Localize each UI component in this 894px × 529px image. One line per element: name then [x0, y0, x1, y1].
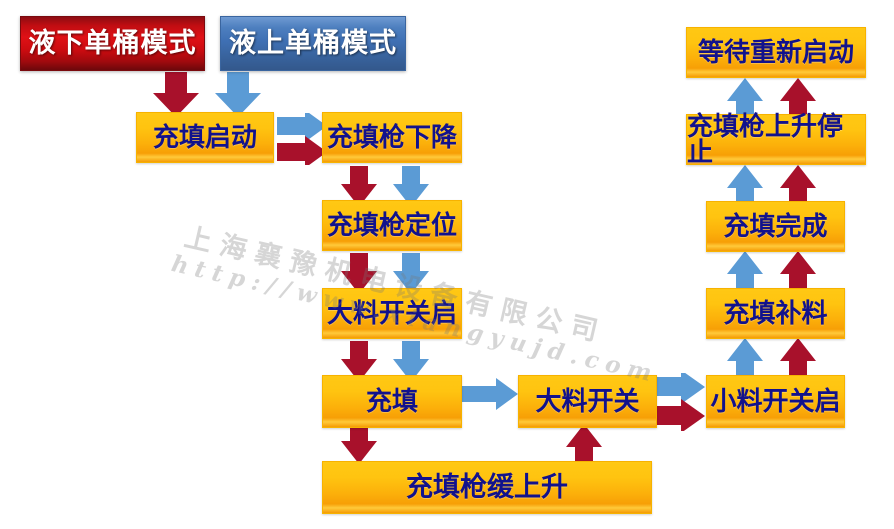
node-mode-sub[interactable]: 液下单桶模式 [20, 16, 205, 71]
node-gun-down[interactable]: 充填枪下降 [322, 112, 462, 163]
node-fill-complete[interactable]: 充填完成 [706, 201, 845, 252]
arrow-right-blue-filling-to-coarse-valve [462, 378, 518, 410]
node-filling[interactable]: 充填 [322, 375, 462, 428]
arrow-up-blue-fill-complete-to-gun-up-stop [726, 165, 764, 205]
arrow-up-red-gun-slow-up-to-coarse-valve [565, 424, 603, 464]
arrow-up-red-fill-complete-to-gun-up-stop [779, 165, 817, 205]
arrow-up-red-fine-valve-on-to-fill-topup [779, 338, 817, 378]
arrow-up-blue-fine-valve-on-to-fill-topup [726, 338, 764, 378]
node-fill-complete-label: 充填完成 [723, 214, 827, 240]
node-gun-down-label: 充填枪下降 [327, 125, 457, 151]
arrow-down-red-filling-to-gun-slow-up [340, 425, 378, 465]
arrow-up-red-fill-topup-to-fill-complete [779, 251, 817, 291]
arrow-right-split-fill-start-to-gun-down [277, 113, 327, 165]
node-mode-top[interactable]: 液上单桶模式 [220, 16, 406, 71]
node-coarse-valve-label: 大料开关 [535, 389, 639, 415]
node-gun-up-stop[interactable]: 充填枪上升停止 [686, 114, 866, 165]
node-mode-sub-label: 液下单桶模式 [29, 30, 197, 57]
node-coarse-valve-on[interactable]: 大料开关启 [322, 288, 462, 339]
node-coarse-valve-on-label: 大料开关启 [327, 301, 457, 327]
node-gun-slow-up-label: 充填枪缓上升 [406, 474, 568, 501]
node-wait-restart-label: 等待重新启动 [698, 40, 854, 66]
node-gun-position[interactable]: 充填枪定位 [322, 200, 462, 251]
node-gun-slow-up[interactable]: 充填枪缓上升 [322, 461, 652, 514]
node-filling-label: 充填 [366, 389, 418, 415]
node-mode-top-label: 液上单桶模式 [229, 30, 397, 57]
node-coarse-valve[interactable]: 大料开关 [518, 375, 657, 428]
arrow-right-split-coarse-valve-to-fine-valve-on [650, 373, 705, 431]
node-fill-start-label: 充填启动 [153, 125, 257, 151]
node-fine-valve-on[interactable]: 小料开关启 [706, 375, 845, 428]
node-fine-valve-on-label: 小料开关启 [710, 389, 840, 415]
node-gun-up-stop-label: 充填枪上升停止 [687, 114, 865, 166]
node-gun-position-label: 充填枪定位 [327, 213, 457, 239]
node-fill-topup[interactable]: 充填补料 [706, 288, 845, 339]
flowchart-canvas: 上海襄豫机电设备有限公司 http://www.xiangyujd.com [0, 0, 894, 529]
arrow-up-blue-fill-topup-to-fill-complete [726, 251, 764, 291]
node-fill-start[interactable]: 充填启动 [136, 112, 274, 163]
node-fill-topup-label: 充填补料 [723, 301, 827, 327]
node-wait-restart[interactable]: 等待重新启动 [686, 27, 866, 78]
